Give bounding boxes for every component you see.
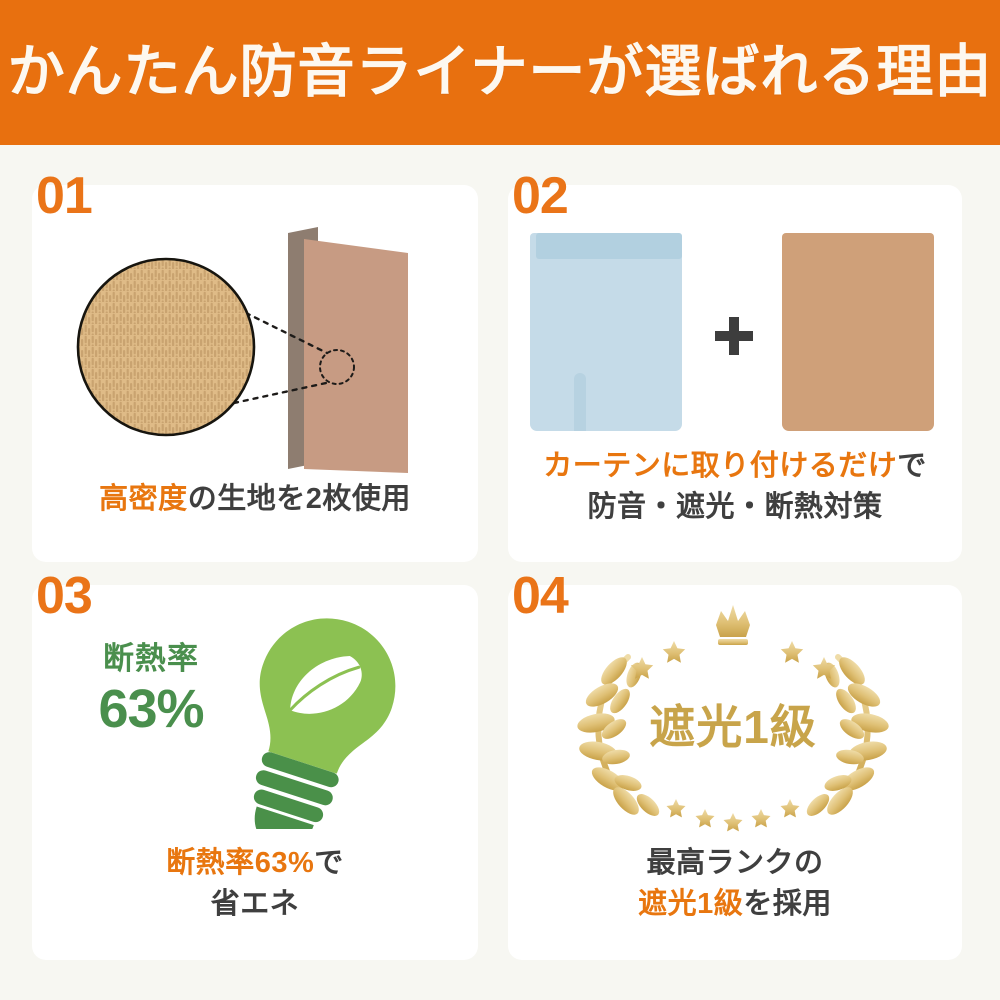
bottom-stars: [667, 799, 800, 831]
lightbulb-svg: [70, 607, 442, 829]
card-number-04: 04: [512, 570, 568, 622]
feature-card-03: 断熱率 63%: [32, 585, 478, 960]
caption-highlight: 高密度: [99, 483, 188, 515]
card-number-02: 02: [512, 170, 568, 222]
eco-lightbulb-icon: 断熱率 63%: [70, 607, 442, 829]
plus-icon: [715, 317, 753, 355]
fabric-magnifier-icon: [56, 225, 456, 475]
feature-caption-03: 断熱率63%で 省エネ: [32, 843, 478, 925]
badge-text: 遮光1級: [568, 691, 898, 757]
top-stars: [631, 641, 835, 679]
feature-card-grid: 高密度の生地を2枚使用 01 カーテンに取り付けるだけで 防音・遮光・断熱対策 …: [0, 145, 1000, 1000]
caption-line2: 省エネ: [211, 888, 300, 920]
page-header: かんたん防音ライナーが選ばれる理由: [0, 0, 1000, 145]
feature-caption-01: 高密度の生地を2枚使用: [32, 479, 478, 520]
caption-rest: の生地を2枚使用: [188, 483, 411, 515]
caption-line2: 防音・遮光・断熱対策: [587, 491, 882, 523]
feature-caption-04: 最高ランクの 遮光1級を採用: [508, 843, 962, 925]
caption-rest: で: [897, 450, 927, 482]
caption-highlight: 遮光1級: [638, 888, 743, 920]
caption-highlight: 断熱率63%: [166, 847, 314, 879]
feature-caption-02: カーテンに取り付けるだけで 防音・遮光・断熱対策: [508, 446, 962, 528]
feature-card-01: 高密度の生地を2枚使用: [32, 185, 478, 562]
caption-rest: を採用: [743, 888, 832, 920]
caption-rest: で: [314, 847, 344, 879]
caption-line1: 最高ランクの: [646, 847, 823, 879]
feature-card-04: 遮光1級 最高ランクの 遮光1級を採用: [508, 585, 962, 960]
curtain-plus-liner-icon: [530, 233, 940, 433]
card-number-03: 03: [36, 570, 92, 622]
feature-card-02: カーテンに取り付けるだけで 防音・遮光・断熱対策: [508, 185, 962, 562]
laurel-wreath-badge-icon: 遮光1級: [568, 599, 898, 834]
card-number-01: 01: [36, 170, 92, 222]
curtain-panel-icon: [530, 233, 682, 431]
page-title: かんたん防音ライナーが選ばれる理由: [8, 44, 993, 101]
fabric-magnifier-svg: [56, 225, 456, 475]
crown-icon: [716, 605, 750, 645]
caption-highlight: カーテンに取り付けるだけ: [543, 450, 897, 482]
liner-panel-icon: [782, 233, 934, 431]
